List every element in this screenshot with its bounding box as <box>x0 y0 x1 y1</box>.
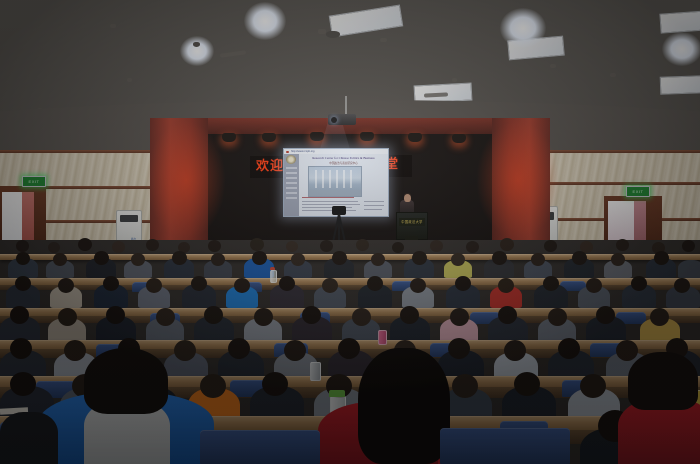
audience-head <box>450 308 469 326</box>
webpage-nav-item-4 <box>286 187 297 189</box>
bottle-cap <box>270 267 275 270</box>
audience-head <box>452 374 478 398</box>
audience-head <box>430 240 443 252</box>
audience-head <box>548 308 567 326</box>
audience-head <box>682 240 695 252</box>
lecture-hall-photo: EXIT EXIT 格力 格力 欢迎 堂 <box>0 0 700 464</box>
audience-head <box>544 240 557 252</box>
audience-head <box>16 252 30 265</box>
ceiling-downlight-2 <box>500 8 546 48</box>
audience-head <box>10 306 29 324</box>
audience-head <box>234 278 250 293</box>
stage-glow-right <box>476 120 560 240</box>
audience-head <box>455 276 471 291</box>
audience-head <box>204 306 223 324</box>
audience-head <box>291 253 305 266</box>
ceiling-vent-6 <box>550 64 556 68</box>
stage-glow-left <box>146 120 226 240</box>
audience-head <box>208 240 221 252</box>
foreground-person-head <box>84 348 168 414</box>
ceiling-downlight-4 <box>662 32 700 66</box>
audience-head <box>211 253 225 266</box>
audience-head <box>286 241 298 252</box>
audience-head <box>284 340 306 361</box>
foreground-person-right-head <box>628 352 698 410</box>
webpage-sidebar <box>284 154 299 216</box>
audience-head <box>58 278 74 293</box>
audience-head <box>320 240 333 252</box>
audience-head <box>94 251 109 265</box>
audience-head <box>498 278 514 293</box>
projector-mount-pole <box>345 96 347 116</box>
audience-head <box>15 276 31 291</box>
audience-head <box>367 276 383 291</box>
audience-head <box>146 278 162 293</box>
audience-head <box>352 308 371 326</box>
audience-head <box>174 340 196 361</box>
water-bottle <box>270 270 277 283</box>
ceiling-vent-8 <box>452 78 457 82</box>
audience-head <box>16 240 29 252</box>
exit-sign-right: EXIT <box>626 186 650 197</box>
audience-head <box>558 338 580 359</box>
stage-lamp-1 <box>222 133 236 142</box>
audience-head <box>543 276 559 291</box>
audience-head <box>10 372 36 396</box>
stage-lamp-4 <box>360 132 374 141</box>
audience-head <box>500 238 514 251</box>
presenter-head <box>404 194 411 202</box>
audience-head <box>410 278 426 293</box>
audience-head <box>466 241 479 253</box>
audience-head <box>58 308 77 326</box>
webpage-nav-item-1 <box>286 172 297 174</box>
audience-head <box>250 238 264 251</box>
audience-head <box>596 306 615 324</box>
audience-head <box>586 278 602 293</box>
chair[interactable] <box>200 430 320 464</box>
audience-head <box>302 306 321 324</box>
ceiling-downlight-1 <box>244 2 286 40</box>
stage-lamp-5 <box>408 133 422 142</box>
audience-head <box>650 308 669 326</box>
ceiling-vent-5 <box>110 24 116 28</box>
audience-head <box>191 276 207 291</box>
webpage-nav-item-3 <box>286 182 297 184</box>
exit-sign-right-label: EXIT <box>627 187 649 196</box>
water-bottle <box>378 330 387 345</box>
audience-head <box>228 338 250 359</box>
audience-head <box>146 239 159 251</box>
audience-head <box>392 242 404 253</box>
audience-head <box>48 242 60 253</box>
audience-head <box>53 253 67 266</box>
webpage-text-line-6 <box>364 205 384 206</box>
audience-head <box>572 251 587 265</box>
foreground-person-left-edge <box>0 412 58 464</box>
audience-head <box>448 338 470 359</box>
browser-favicon <box>286 151 289 153</box>
bottle-cap <box>329 390 345 397</box>
ceiling-light-panel-5 <box>660 75 700 95</box>
audience-head <box>106 306 125 324</box>
audience-head <box>356 239 369 251</box>
audience-head <box>112 241 125 253</box>
projector-lens-icon <box>331 117 337 123</box>
audience-person <box>678 260 700 278</box>
audience-head <box>322 278 338 293</box>
audience-head <box>156 308 175 326</box>
audience-head <box>400 306 419 324</box>
audience-head <box>514 372 540 396</box>
ceiling-vent-1 <box>318 29 326 34</box>
podium-nameplate: 中国政法大学 <box>399 218 425 226</box>
audience-head <box>254 308 273 326</box>
ceiling-speaker-2 <box>193 42 200 47</box>
audience-head <box>10 338 32 359</box>
audience-head <box>252 251 267 265</box>
webpage-nav-item-6 <box>286 197 297 199</box>
audience-head <box>616 239 629 251</box>
stage-lamp-3 <box>310 132 324 141</box>
exit-sign-left-label: EXIT <box>23 177 45 186</box>
audience-head <box>498 306 517 324</box>
stage-lamp-6 <box>452 134 466 143</box>
webpage-nav-item-2 <box>286 177 297 179</box>
audience-head <box>200 374 226 398</box>
ceiling-vent-2 <box>380 38 387 42</box>
audience-head <box>631 276 647 291</box>
webpage-text-line-5 <box>364 201 384 202</box>
led-banner-left-text: 欢迎 <box>256 160 284 173</box>
exit-sign-left: EXIT <box>22 176 46 187</box>
audience-head <box>611 253 625 266</box>
ceiling-speaker-1 <box>326 31 340 38</box>
ceiling-vent-9 <box>127 78 132 82</box>
thermos-bottle <box>310 362 321 381</box>
audience-head <box>674 278 690 293</box>
stage-lamp-2 <box>262 133 276 142</box>
audience-head <box>64 340 86 361</box>
audience-head <box>279 276 295 291</box>
webpage-nav-item-5 <box>286 192 297 194</box>
audience-head <box>412 251 427 265</box>
chair[interactable] <box>440 428 570 464</box>
ceiling-light-panel-3 <box>659 10 700 33</box>
audience-head <box>492 251 507 265</box>
ceiling-vent-7 <box>610 73 616 77</box>
audience-head <box>580 374 606 398</box>
ac-left-grill <box>120 215 138 222</box>
podium-inscription: 中国政法大学 <box>399 218 425 226</box>
audience-head <box>504 340 526 361</box>
audience-head <box>371 253 385 266</box>
audience-head <box>338 338 360 359</box>
audience-head <box>451 253 465 266</box>
webpage-logo <box>286 155 296 164</box>
foreground-person-long-hair <box>358 348 450 464</box>
audience-head <box>78 238 92 251</box>
projector <box>328 114 356 125</box>
audience-head <box>654 251 669 265</box>
audience-head <box>332 251 347 265</box>
webpage-nav-item-0 <box>286 167 297 169</box>
audience-head <box>131 253 145 266</box>
audience-head <box>616 340 638 361</box>
audience-head <box>262 372 288 396</box>
audience-head <box>103 276 119 291</box>
ceiling-downlight-3 <box>180 36 214 66</box>
audience-head <box>531 253 545 266</box>
audience-head <box>172 251 187 265</box>
